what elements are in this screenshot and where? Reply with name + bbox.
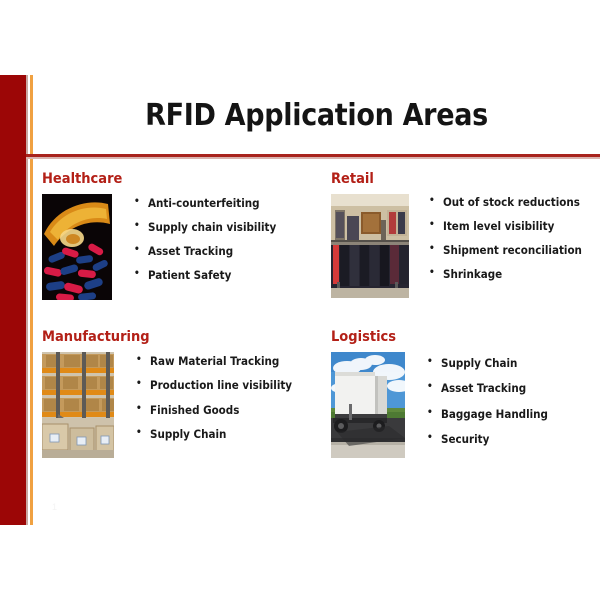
title-divider-shadow — [26, 157, 600, 159]
list-item: Supply chain visibility — [134, 222, 322, 234]
list-item: Raw Material Tracking — [136, 356, 322, 368]
bullet-list-retail: Out of stock reductions Item level visib… — [429, 197, 599, 293]
list-item: Security — [427, 434, 599, 446]
left-accent-band — [0, 75, 26, 525]
list-item: Shipment reconciliation — [429, 245, 599, 257]
section-body-healthcare: Anti-counterfeiting Supply chain visibil… — [42, 194, 322, 300]
list-item: Supply Chain — [136, 429, 322, 441]
section-heading-healthcare: Healthcare — [42, 172, 322, 188]
section-manufacturing: Manufacturing — [42, 330, 322, 458]
section-body-logistics: Supply Chain Asset Tracking Baggage Hand… — [331, 352, 599, 460]
page-title: RFID Application Areas — [33, 98, 600, 133]
bullet-list-healthcare: Anti-counterfeiting Supply chain visibil… — [134, 198, 322, 294]
list-item: Production line visibility — [136, 380, 322, 392]
section-logistics: Logistics — [331, 330, 599, 460]
list-item: Item level visibility — [429, 221, 599, 233]
section-heading-logistics: Logistics — [331, 330, 599, 346]
bullet-list-logistics: Supply Chain Asset Tracking Baggage Hand… — [427, 358, 599, 460]
list-item: Out of stock reductions — [429, 197, 599, 209]
clothing-store-racks-photo — [331, 194, 409, 298]
list-item: Asset Tracking — [134, 246, 322, 258]
list-item: Finished Goods — [136, 405, 322, 417]
box-truck-on-road-photo — [331, 352, 405, 458]
pill-bottle-capsules-photo — [42, 194, 112, 300]
section-retail: Retail — [331, 172, 599, 298]
list-item: Supply Chain — [427, 358, 599, 370]
section-healthcare: Healthcare — [42, 172, 322, 300]
section-heading-manufacturing: Manufacturing — [42, 330, 322, 346]
list-item: Baggage Handling — [427, 409, 599, 421]
slide-canvas: RFID Application Areas Healthcare — [0, 0, 600, 600]
list-item: Asset Tracking — [427, 383, 599, 395]
list-item: Patient Safety — [134, 270, 322, 282]
slide-number: 1 — [52, 502, 57, 512]
left-accent-band-edge — [26, 75, 28, 525]
warehouse-pallet-racking-photo — [42, 352, 114, 458]
section-body-retail: Out of stock reductions Item level visib… — [331, 194, 599, 298]
section-heading-retail: Retail — [331, 172, 599, 188]
list-item: Shrinkage — [429, 269, 599, 281]
bullet-list-manufacturing: Raw Material Tracking Production line vi… — [136, 356, 322, 454]
list-item: Anti-counterfeiting — [134, 198, 322, 210]
section-body-manufacturing: Raw Material Tracking Production line vi… — [42, 352, 322, 458]
left-accent-line-orange — [30, 75, 33, 525]
